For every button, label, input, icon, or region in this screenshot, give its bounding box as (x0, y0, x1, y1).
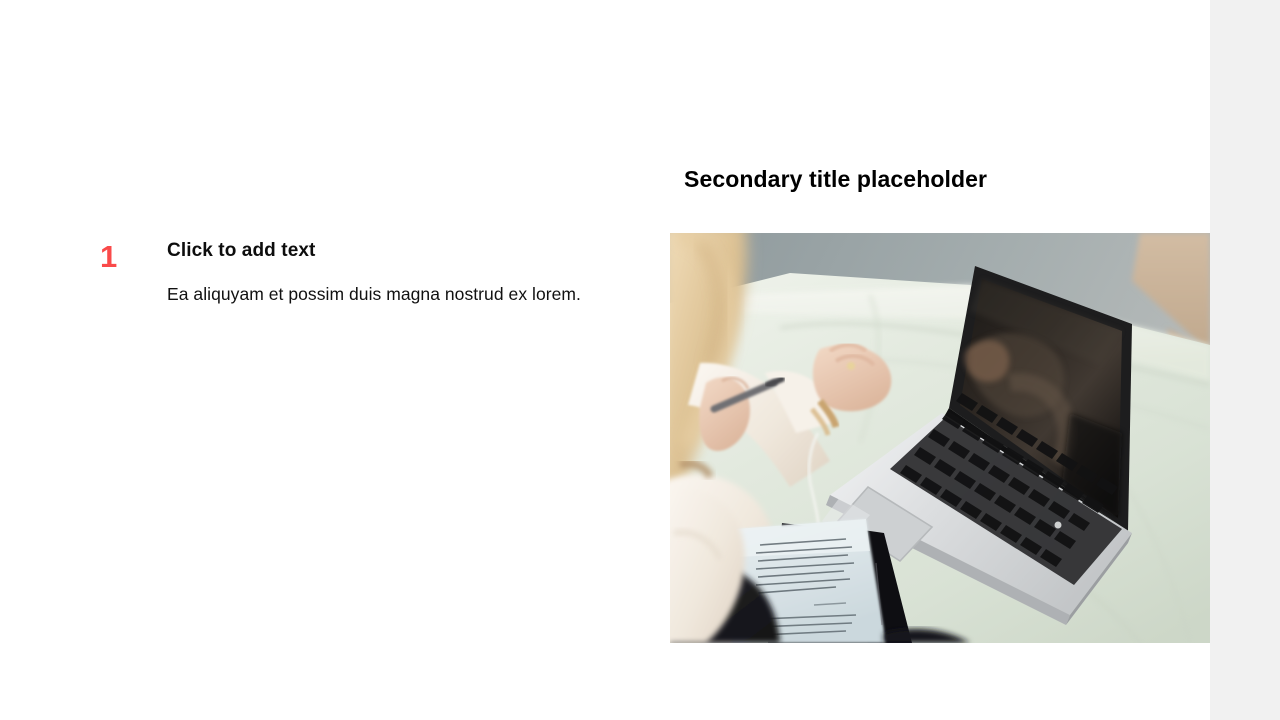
secondary-title[interactable]: Secondary title placeholder (684, 163, 1204, 195)
bullet-heading[interactable]: Click to add text (167, 238, 620, 264)
bullet-number: 1 (100, 238, 140, 276)
slide-canvas: 1 Click to add text Ea aliquyam et possi… (0, 0, 1210, 720)
workspace-gutter (1210, 0, 1280, 720)
photo-illustration (670, 233, 1210, 643)
bullet-body: Click to add text Ea aliquyam et possim … (140, 238, 620, 306)
bullet-body-text[interactable]: Ea aliquyam et possim duis magna nostrud… (167, 282, 620, 306)
content-photo[interactable] (670, 233, 1210, 643)
bullet-block[interactable]: 1 Click to add text Ea aliquyam et possi… (100, 238, 620, 306)
